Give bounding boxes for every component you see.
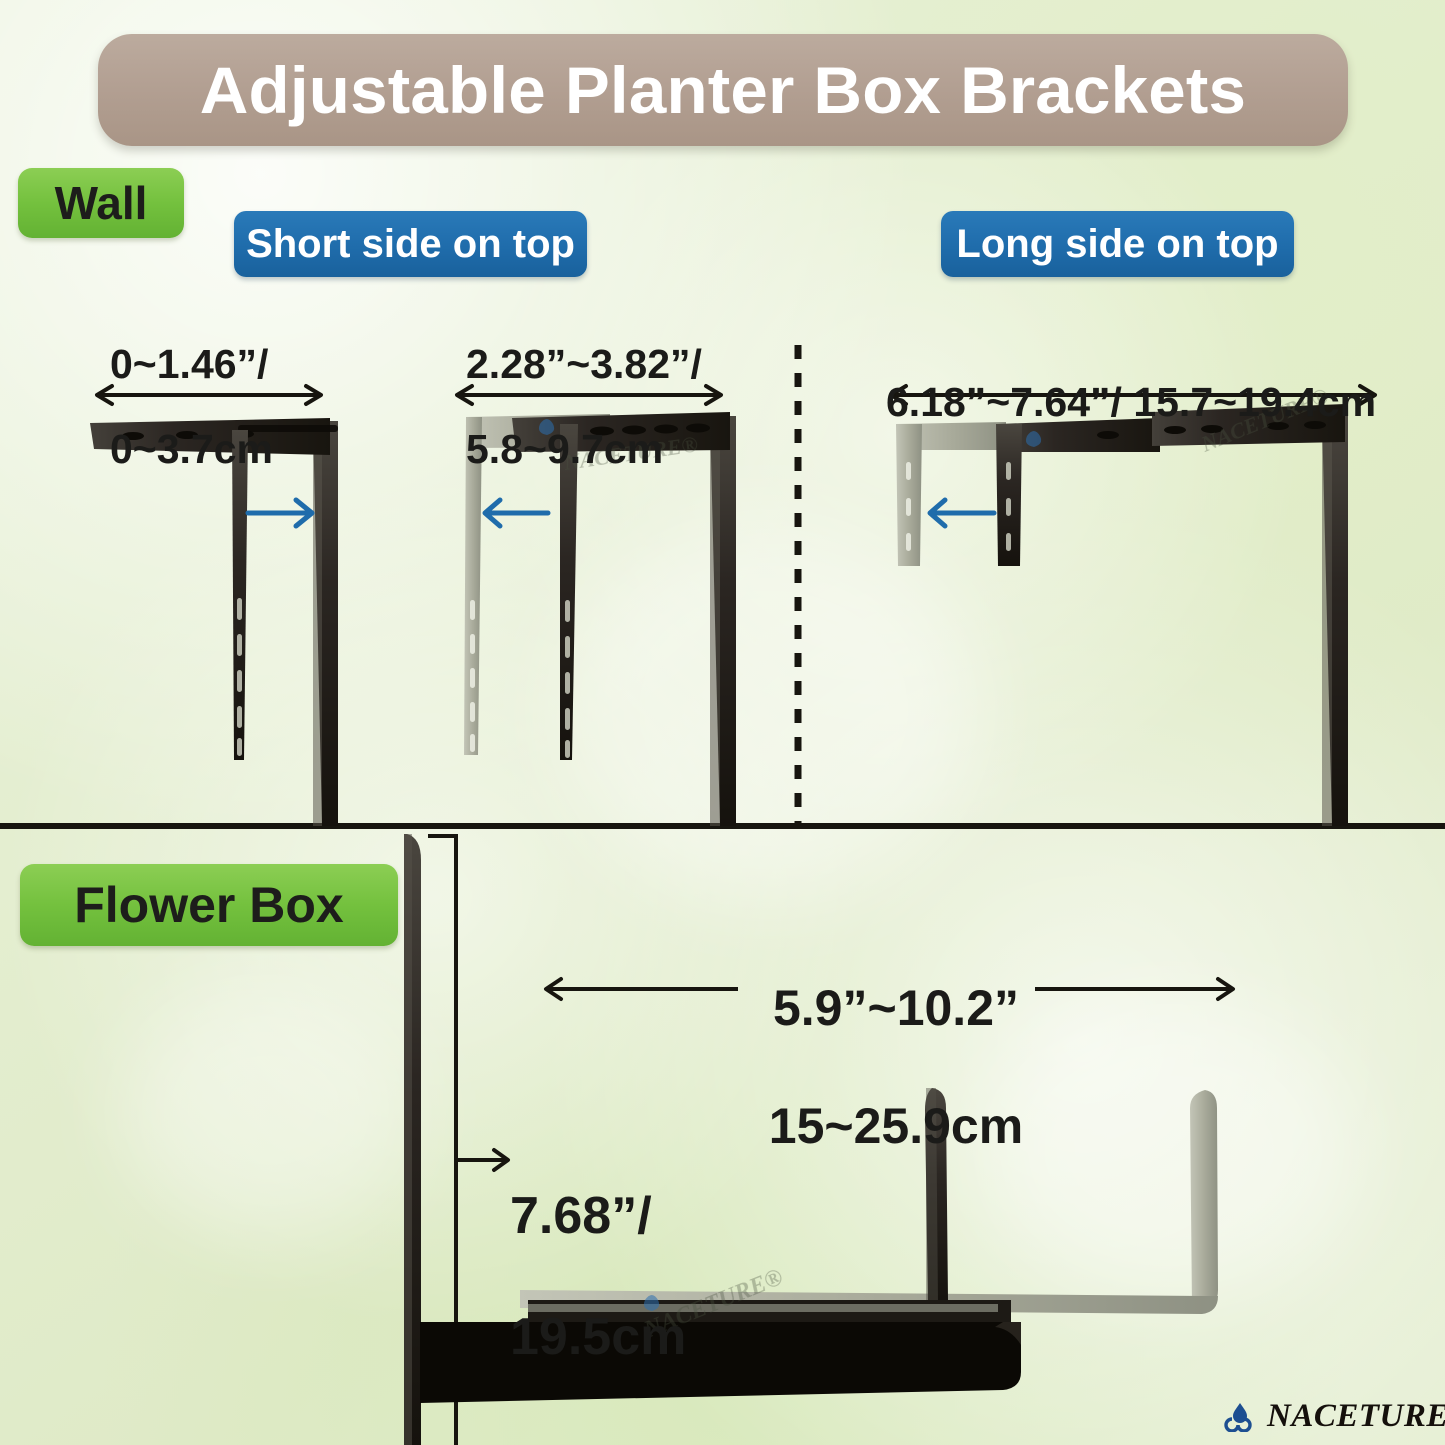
- dimension-label-flowerbox-width-inches: 5.9”~10.2”: [706, 979, 1086, 1038]
- tab-long-side-on-top[interactable]: Long side on top: [941, 211, 1294, 277]
- bracket-long-rail-right-group: [1322, 416, 1348, 826]
- section-badge-wall-label: Wall: [55, 176, 148, 230]
- dimension-label-short-min-cm: 0~3.7cm: [110, 428, 340, 471]
- infographic-canvas: NACETURE® NACETURE® NACETURE® Adjustable…: [0, 0, 1445, 1445]
- dimension-label-flowerbox-height-inches: 7.68”/: [510, 1186, 770, 1246]
- dimension-label-short-max: 2.28”~3.82”/ 5.8~9.7cm: [466, 300, 726, 513]
- dimension-label-flowerbox-height-cm: 19.5cm: [510, 1307, 770, 1367]
- wall-post: [404, 834, 421, 1445]
- dimension-label-long-range: 6.18”~7.64”/ 15.7~19.4cm: [886, 338, 1386, 466]
- adjust-arrow-left-2: [930, 500, 994, 526]
- tab-short-side-on-top[interactable]: Short side on top: [234, 211, 587, 277]
- dimension-label-short-max-inches: 2.28”~3.82”/: [466, 343, 726, 386]
- brand-name: NACETURE: [1267, 1398, 1445, 1435]
- dimension-label-short-min: 0~1.46”/ 0~3.7cm: [110, 300, 340, 513]
- section-badge-flower-box-label: Flower Box: [74, 876, 343, 934]
- section-badge-flower-box: Flower Box: [20, 864, 398, 946]
- tab-short-side-label: Short side on top: [246, 222, 575, 267]
- dimension-label-short-max-cm: 5.8~9.7cm: [466, 428, 726, 471]
- page-title-badge: Adjustable Planter Box Brackets: [98, 34, 1348, 146]
- brand-logo: NACETURE ®: [1224, 1398, 1445, 1435]
- dimension-label-short-min-inches: 0~1.46”/: [110, 343, 340, 386]
- dimension-label-flowerbox-height: 7.68”/ 19.5cm: [510, 1126, 770, 1428]
- tab-long-side-label: Long side on top: [956, 222, 1278, 267]
- section-badge-wall: Wall: [18, 168, 184, 238]
- droplet-infinity-icon: [1224, 1402, 1258, 1432]
- page-title: Adjustable Planter Box Brackets: [200, 52, 1246, 128]
- dimension-label-long-range-text: 6.18”~7.64”/ 15.7~19.4cm: [886, 381, 1386, 424]
